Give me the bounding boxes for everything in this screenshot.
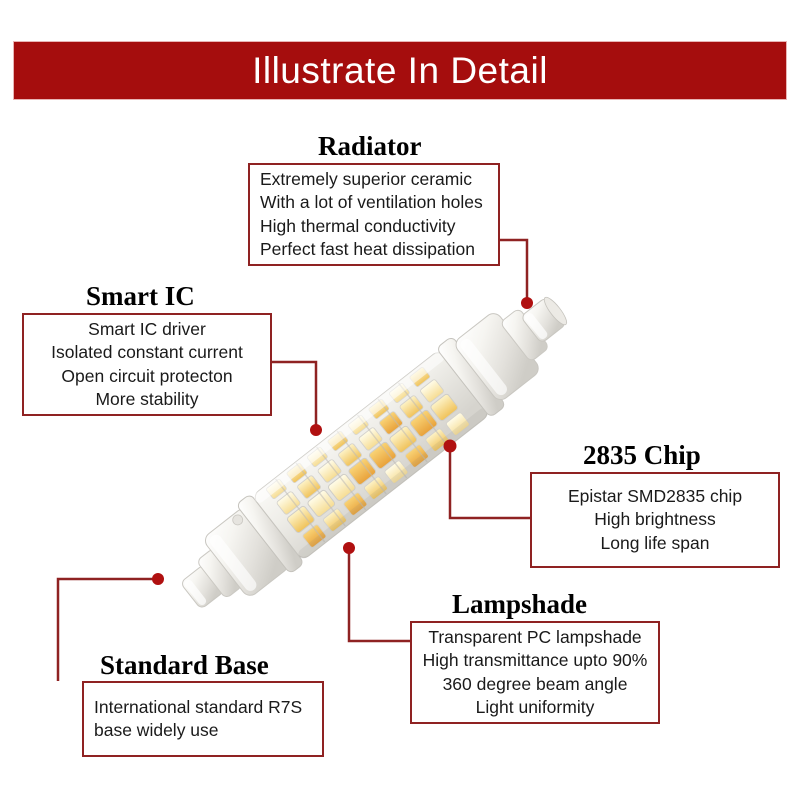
illustration-page: Illustrate In Detail: [0, 0, 800, 800]
callout-line: High brightness: [532, 508, 778, 531]
callout-box-lampshade: Transparent PC lampshade High transmitta…: [410, 621, 660, 724]
leader-dot-radiator: [521, 297, 533, 309]
callout-box-standard-base: International standard R7S base widely u…: [82, 681, 324, 757]
callout-line: Perfect fast heat dissipation: [250, 238, 498, 261]
callout-line: With a lot of ventilation holes: [250, 191, 498, 214]
callout-line: More stability: [24, 388, 270, 411]
bulb-lampshade: [252, 350, 490, 561]
bulb-base-right: [436, 273, 586, 417]
callout-line: Extremely superior ceramic: [250, 168, 498, 191]
led-chip-grid: [263, 363, 473, 552]
callout-line: 360 degree beam angle: [412, 673, 658, 696]
callout-heading-radiator: Radiator: [318, 133, 422, 160]
callout-line: Long life span: [532, 532, 778, 555]
callout-box-smart-ic: Smart IC driver Isolated constant curren…: [22, 313, 272, 416]
header-banner: Illustrate In Detail: [13, 41, 787, 100]
callout-line: Smart IC driver: [24, 318, 270, 341]
leader-line-lampshade: [349, 551, 410, 641]
leader-dot-smart-ic: [310, 424, 322, 436]
callout-heading-smart-ic: Smart IC: [86, 283, 195, 310]
callout-line: International standard R7S: [84, 696, 322, 719]
callout-line: Epistar SMD2835 chip: [532, 485, 778, 508]
leader-dot-standard-base: [152, 573, 164, 585]
callout-heading-lampshade: Lampshade: [452, 591, 587, 618]
callout-line: Open circuit protecton: [24, 365, 270, 388]
callout-line: Light uniformity: [412, 696, 658, 719]
callout-heading-2835-chip: 2835 Chip: [583, 442, 701, 469]
bulb-base-left: [164, 494, 305, 631]
page-title: Illustrate In Detail: [252, 52, 548, 89]
callout-line: High thermal conductivity: [250, 215, 498, 238]
leader-line-2835-chip: [450, 449, 530, 518]
callout-line: High transmittance upto 90%: [412, 649, 658, 672]
callout-line: Isolated constant current: [24, 341, 270, 364]
callout-line: base widely use: [84, 719, 322, 742]
callout-box-2835-chip: Epistar SMD2835 chip High brightness Lon…: [530, 472, 780, 568]
callout-line: Transparent PC lampshade: [412, 626, 658, 649]
leader-line-smart-ic: [272, 362, 316, 428]
leader-dot-2835-chip: [444, 440, 457, 453]
leader-dot-lampshade: [343, 542, 355, 554]
leader-line-radiator: [500, 240, 527, 302]
callout-heading-standard-base: Standard Base: [100, 652, 269, 679]
callout-box-radiator: Extremely superior ceramic With a lot of…: [248, 163, 500, 266]
